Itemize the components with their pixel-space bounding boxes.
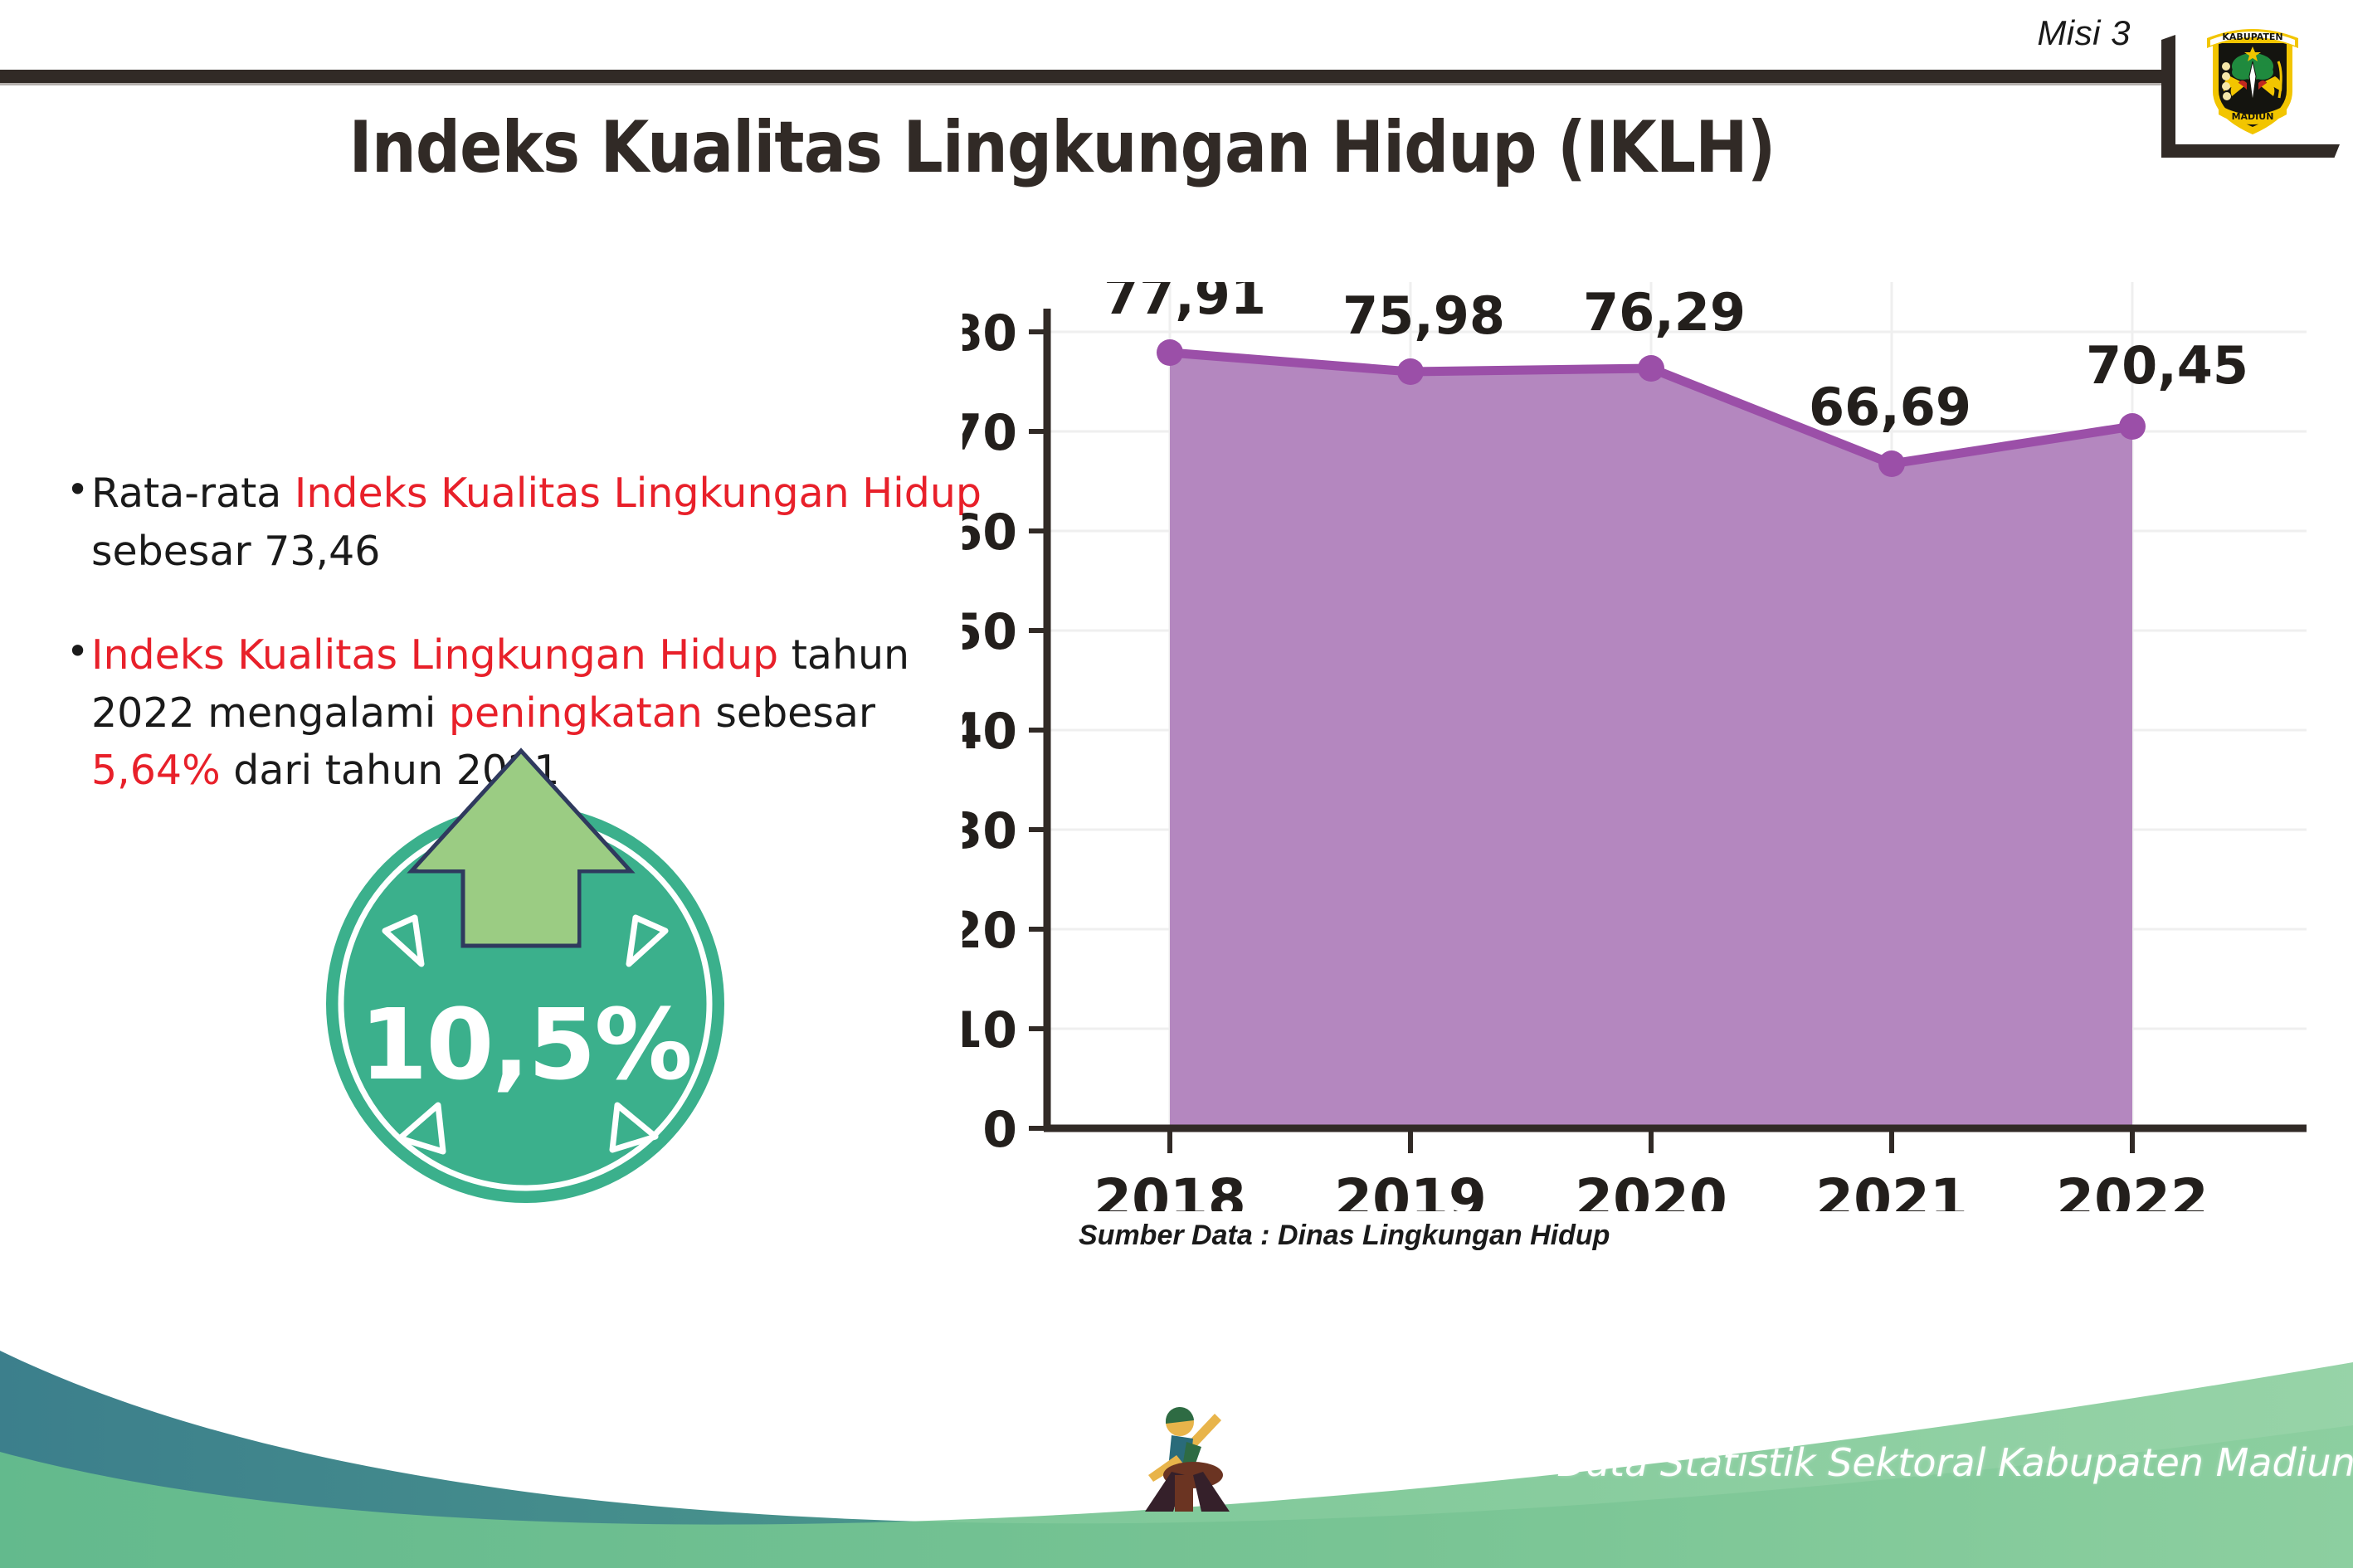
bullet-seg-2: sebesar 73,46 — [91, 528, 380, 575]
y-tick-40: 40 — [962, 703, 1017, 761]
y-tick-60: 60 — [962, 504, 1017, 562]
y-tick-0: 0 — [982, 1101, 1017, 1159]
header-bracket-horizontal — [2161, 144, 2340, 158]
y-tick-80: 80 — [962, 304, 1017, 363]
x-tick-2019: 2019 — [1334, 1167, 1487, 1211]
logo-top-text: KABUPATEN — [2222, 32, 2282, 42]
y-tick-20: 20 — [962, 902, 1017, 960]
increase-badge: 10,5% — [317, 747, 757, 1211]
y-tick-10: 10 — [962, 1001, 1017, 1059]
bullet-seg-1: Indeks Kualitas Lingkungan Hidup — [295, 470, 982, 517]
misi-label: Misi 3 — [2037, 13, 2131, 53]
point-label-2022: 70,45 — [2086, 335, 2248, 396]
x-tick-2020: 2020 — [1575, 1167, 1727, 1211]
chart-source-note: Sumber Data : Dinas Lingkungan Hidup — [1079, 1220, 1610, 1252]
iklh-area-chart: 80 70 60 50 40 30 20 10 0 2018 2019 2020… — [962, 282, 2307, 1211]
bullet2-seg-0: Indeks Kualitas Lingkungan Hidup — [91, 631, 778, 679]
bullet-item-average: Rata-rata Indeks Kualitas Lingkungan Hid… — [66, 465, 1004, 580]
chart-area-fill — [1170, 353, 2132, 1128]
chart-x-tick-labels: 2018 2019 2020 2021 2022 — [1094, 1167, 2209, 1211]
x-tick-2022: 2022 — [2056, 1167, 2209, 1211]
bullet2-seg-4: 5,64% — [91, 747, 221, 794]
chart-svg: 80 70 60 50 40 30 20 10 0 2018 2019 2020… — [962, 282, 2307, 1211]
y-tick-50: 50 — [962, 603, 1017, 661]
header-bracket-vertical — [2161, 35, 2175, 158]
chart-y-tick-labels: 80 70 60 50 40 30 20 10 0 — [962, 304, 1017, 1159]
y-tick-30: 30 — [962, 802, 1017, 860]
point-label-2018: 77,91 — [1103, 282, 1266, 326]
footer-caption: Media Infografis Data Statistik Sektoral… — [1238, 1440, 2353, 1485]
statistics-figure-icon — [1143, 1395, 1236, 1520]
bullet2-seg-3: sebesar — [703, 689, 875, 737]
point-label-2021: 66,69 — [1809, 377, 1971, 437]
logo-bottom-text: MADIUN — [2232, 111, 2274, 122]
kabupaten-madiun-logo: KABUPATEN MADIUN — [2199, 15, 2307, 138]
badge-value: 10,5% — [317, 987, 733, 1102]
bullet-seg-0: Rata-rata — [91, 470, 295, 517]
point-label-2020: 76,29 — [1583, 282, 1746, 343]
point-label-2019: 75,98 — [1342, 285, 1505, 346]
page-title: Indeks Kualitas Lingkungan Hidup (IKLH) — [128, 106, 1997, 189]
bullet2-seg-2: peningkatan — [449, 689, 703, 737]
header-rule — [0, 70, 2169, 83]
y-tick-70: 70 — [962, 404, 1017, 462]
x-tick-2018: 2018 — [1094, 1167, 1246, 1211]
x-tick-2021: 2021 — [1815, 1167, 1968, 1211]
